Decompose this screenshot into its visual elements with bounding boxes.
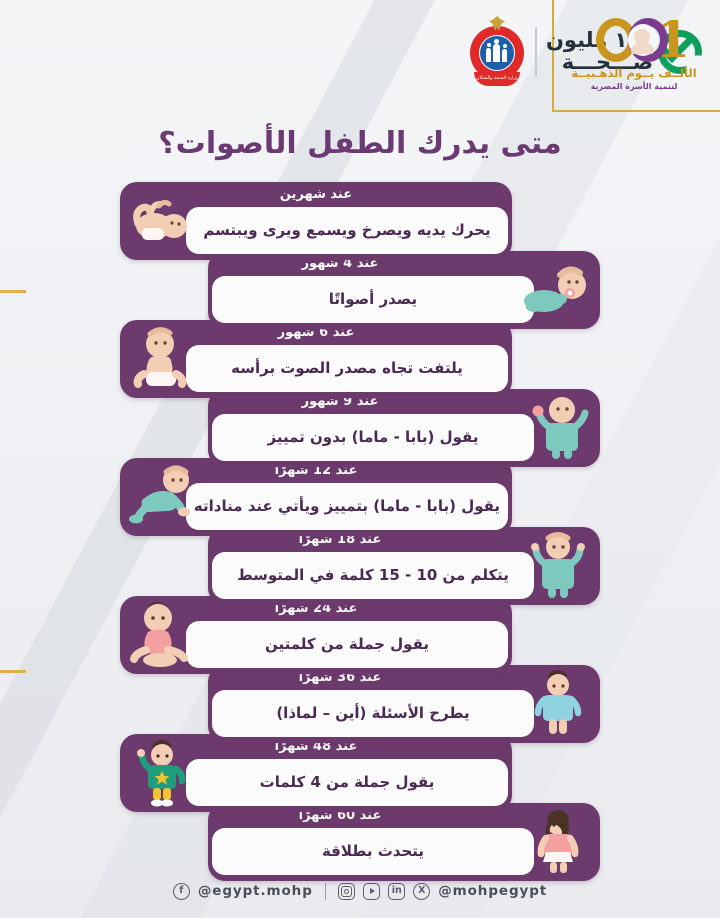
baby-rattle-icon	[522, 393, 594, 463]
toddler-sitting-icon	[126, 600, 198, 670]
milestone-row: عند 6 شهوريلتفت تجاه مصدر الصوت برأسه	[120, 320, 512, 398]
facebook-icon[interactable]: f	[173, 883, 190, 900]
baby-sitting-icon	[126, 324, 198, 394]
baby-pacifier-icon	[522, 255, 594, 325]
milestone-description: يقول (بابا - ماما) بتمييز ويأتي عند مناد…	[186, 483, 508, 530]
footer-divider	[325, 883, 327, 900]
milestone-row: عند 60 شهرًايتحدث بطلاقة	[208, 803, 600, 881]
baby-lying-icon	[126, 186, 198, 256]
logo-divider	[535, 27, 537, 77]
other-handle[interactable]: @mohpegypt	[438, 883, 547, 899]
milestone-description: يحرك يديه ويصرخ ويسمع ويرى ويبتسم	[186, 207, 508, 254]
x-twitter-icon[interactable]: X	[413, 883, 430, 900]
ministry-seal-icon: وزارة الصحة والسكان	[468, 16, 526, 88]
golden-logo-line-2: لتنمية الأسرة المصرية	[570, 82, 698, 91]
milestone-description: يطرح الأسئلة (أين – لماذا)	[212, 690, 534, 737]
milestone-row: عند 24 شهرًايقول جملة من كلمتين	[120, 596, 512, 674]
milestone-description: يلتفت تجاه مصدر الصوت برأسه	[186, 345, 508, 392]
seal-band-text: وزارة الصحة والسكان	[474, 72, 520, 86]
milestone-row: عند 36 شهرًايطرح الأسئلة (أين – لماذا)	[208, 665, 600, 743]
milestone-description: يتحدث بطلاقة	[212, 828, 534, 875]
youtube-icon[interactable]	[363, 883, 380, 900]
milestone-description: يتكلم من 10 - 15 كلمة في المتوسط	[212, 552, 534, 599]
linkedin-icon[interactable]: in	[388, 883, 405, 900]
milestone-row: عند شهرينيحرك يديه ويصرخ ويسمع ويرى ويبت…	[120, 182, 512, 260]
girl-standing-icon	[522, 807, 594, 877]
milestone-description: يقول جملة من كلمتين	[186, 621, 508, 668]
baby-crawling-icon	[126, 462, 198, 532]
milestone-description: يصدر أصواتًا	[212, 276, 534, 323]
boy-waving-icon	[126, 738, 198, 808]
milestone-row: عند 9 شهوريقول (بابا - ماما) بدون تمييز	[208, 389, 600, 467]
milestone-row: عند 12 شهرًايقول (بابا - ماما) بتمييز وي…	[120, 458, 512, 536]
child-standing-icon	[522, 669, 594, 739]
milestone-row: عند 18 شهرًايتكلم من 10 - 15 كلمة في الم…	[208, 527, 600, 605]
golden-1000-number: 1	[570, 12, 698, 68]
instagram-icon[interactable]	[338, 883, 355, 900]
infographic-page: ١٠٠ مليون صـــحـــة وزارة الصحة والسكان …	[0, 0, 720, 918]
page-title: متى يدرك الطفل الأصوات؟	[0, 126, 720, 161]
milestone-description: يقول (بابا - ماما) بدون تمييز	[212, 414, 534, 461]
toddler-standing-icon	[522, 531, 594, 601]
milestone-list: عند شهرينيحرك يديه ويصرخ ويسمع ويرى ويبت…	[0, 182, 720, 882]
milestone-row: عند 4 شهوريصدر أصواتًا	[208, 251, 600, 329]
milestone-description: يقول جملة من 4 كلمات	[186, 759, 508, 806]
header: ١٠٠ مليون صـــحـــة وزارة الصحة والسكان …	[0, 0, 720, 116]
golden-days-logo: 1 الألــف يــوم الذهـبيــة لتنمية الأسرة…	[570, 12, 698, 91]
mother-baby-icon	[628, 24, 658, 56]
milestone-row: عند 48 شهرًايقول جملة من 4 كلمات	[120, 734, 512, 812]
facebook-handle[interactable]: @egypt.mohp	[198, 883, 313, 899]
